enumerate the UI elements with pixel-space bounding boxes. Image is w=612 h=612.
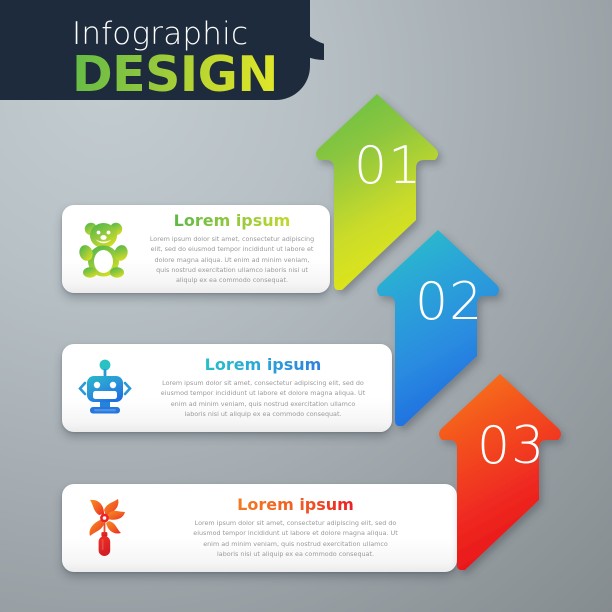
card-title-02: Lorem ipsum: [205, 356, 322, 374]
page-title-line2: DESIGN: [72, 46, 278, 103]
robot-icon: [62, 344, 148, 432]
pinwheel-icon: [62, 484, 148, 572]
step-card-body-03: Lorem ipsum Lorem ipsum dolor sit amet, …: [148, 496, 457, 559]
card-title-03: Lorem ipsum: [237, 496, 354, 514]
step-arrow-03[interactable]: 03: [435, 372, 565, 572]
card-text-01: Lorem ipsum dolor sit amet, consectetur …: [148, 234, 316, 286]
step-card-02[interactable]: Lorem ipsum Lorem ipsum dolor sit amet, …: [62, 344, 392, 432]
step-card-01[interactable]: Lorem ipsum Lorem ipsum dolor sit amet, …: [62, 205, 330, 293]
card-text-02: Lorem ipsum dolor sit amet, consectetur …: [161, 378, 366, 420]
teddy-bear-icon: [62, 205, 148, 293]
infographic-canvas: Infographic DESIGN 01: [0, 0, 612, 612]
card-text-03: Lorem ipsum dolor sit amet, consectetur …: [193, 518, 398, 560]
header-title-group: Infographic DESIGN: [0, 0, 330, 118]
card-title-01: Lorem ipsum: [174, 212, 291, 230]
step-card-body-02: Lorem ipsum Lorem ipsum dolor sit amet, …: [148, 356, 392, 419]
step-card-03[interactable]: Lorem ipsum Lorem ipsum dolor sit amet, …: [62, 484, 457, 572]
step-card-body-01: Lorem ipsum Lorem ipsum dolor sit amet, …: [148, 212, 330, 285]
